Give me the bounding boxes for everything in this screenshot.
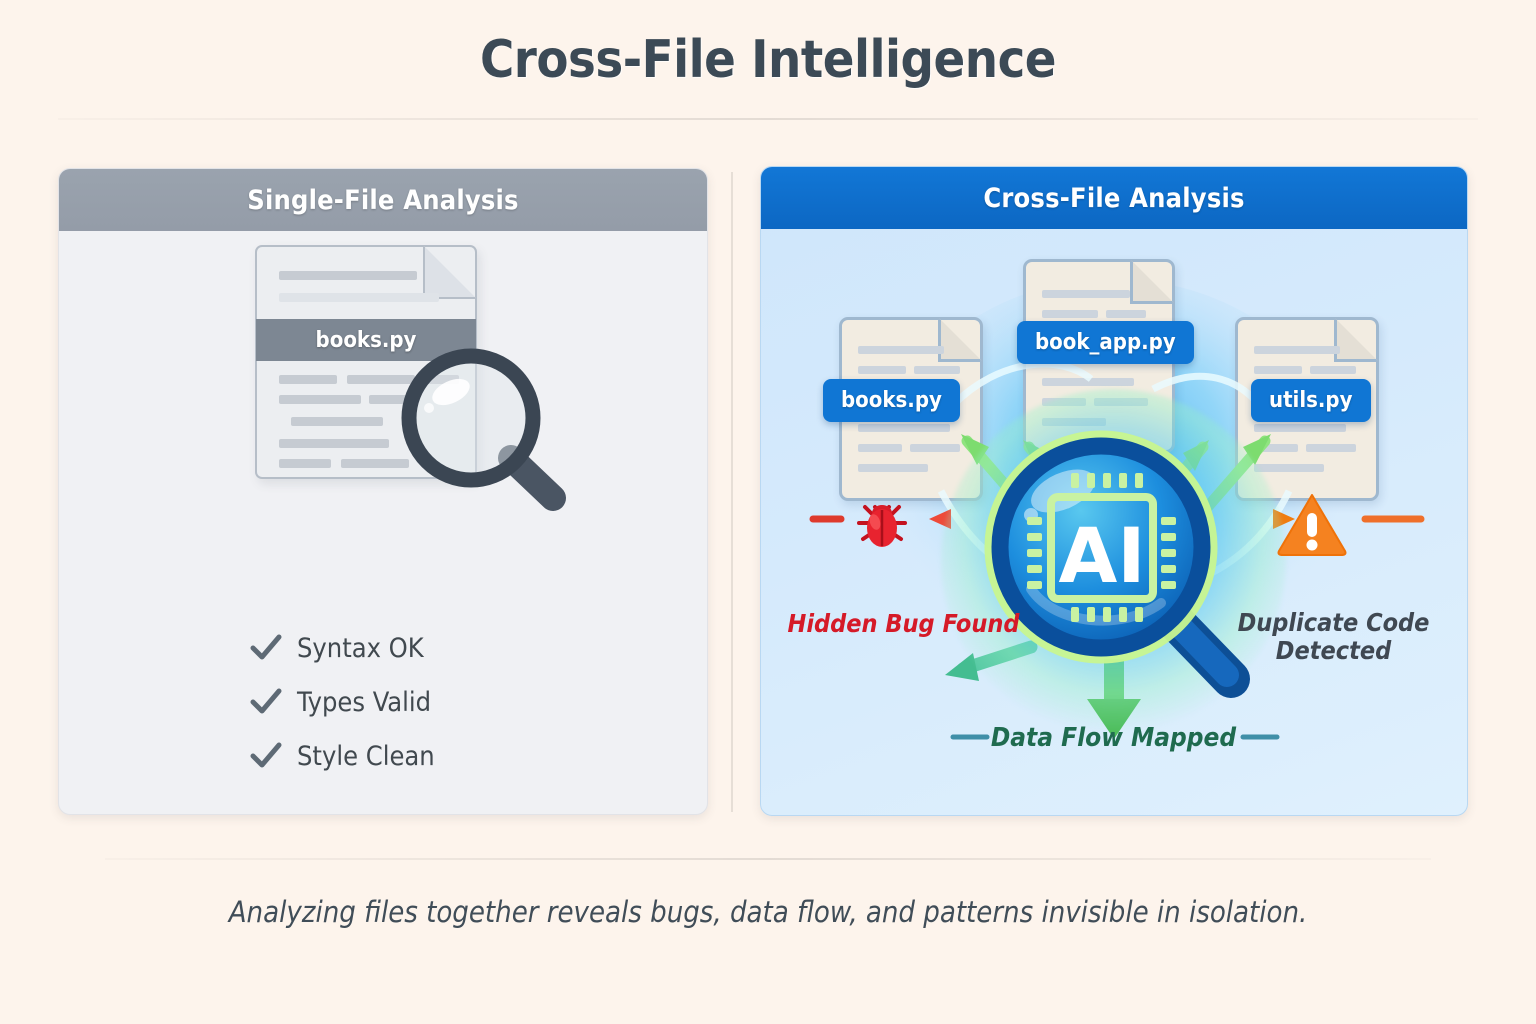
finding-label-data-flow: Data Flow Mapped (911, 723, 1316, 753)
doc-text-line (1042, 310, 1098, 318)
doc-text-line (1310, 366, 1356, 374)
single-file-analysis-panel: Single-File Analysis books.py (58, 168, 708, 815)
file-badge-book-app[interactable]: book_app.py (1017, 321, 1194, 364)
page-fold-corner (938, 317, 983, 362)
doc-text-line (914, 366, 960, 374)
file-badge-label: book_app.py (1035, 330, 1176, 355)
page-fold-corner (1334, 317, 1379, 362)
check-icon (249, 631, 283, 665)
finding-label-duplicate-code: Duplicate Code Detected (1201, 609, 1466, 664)
cross-file-panel-header: Cross-File Analysis (761, 167, 1467, 229)
doc-text-line (1254, 366, 1302, 374)
doc-text-line (1306, 444, 1356, 452)
doc-text-line (291, 417, 383, 426)
doc-text-line (279, 395, 361, 404)
analysis-checklist: Syntax OK Types Valid Style Clean (249, 631, 435, 793)
checklist-item: Types Valid (249, 685, 435, 719)
doc-text-line (1254, 424, 1346, 432)
single-file-panel-title: Single-File Analysis (247, 185, 518, 216)
page-fold-corner (1130, 259, 1175, 304)
doc-text-line (279, 459, 331, 468)
page-title: Cross-File Intelligence (0, 30, 1536, 90)
doc-text-line (279, 439, 389, 448)
single-file-panel-header: Single-File Analysis (59, 169, 707, 231)
doc-text-line (858, 366, 906, 374)
doc-text-line (858, 424, 950, 432)
page-fold-corner (423, 245, 477, 299)
doc-text-line (1042, 290, 1130, 298)
ai-core-label: AI (1058, 511, 1145, 600)
top-divider (58, 118, 1478, 120)
finding-label-line1: Duplicate Code (1201, 609, 1466, 637)
file-badge-books[interactable]: books.py (823, 379, 960, 422)
doc-text-line (279, 293, 439, 302)
checklist-item-label: Style Clean (297, 741, 435, 772)
doc-text-line (1042, 378, 1134, 386)
doc-text-line (858, 444, 902, 452)
file-badge-label: utils.py (1269, 388, 1353, 413)
bug-icon (851, 491, 913, 553)
checklist-item-label: Syntax OK (297, 633, 424, 664)
bottom-divider (105, 858, 1431, 860)
magnifier-icon (399, 346, 579, 526)
checklist-item-label: Types Valid (297, 687, 431, 718)
checklist-item: Style Clean (249, 739, 435, 773)
doc-text-line (910, 444, 960, 452)
warning-icon (1277, 491, 1347, 557)
doc-text-line (1254, 346, 1340, 354)
panel-divider (731, 172, 733, 812)
doc-text-line (1106, 310, 1146, 318)
doc-text-line (858, 346, 944, 354)
checklist-item: Syntax OK (249, 631, 435, 665)
doc-text-line (1254, 444, 1298, 452)
check-icon (249, 739, 283, 773)
cross-file-panel-title: Cross-File Analysis (983, 183, 1244, 214)
single-file-panel-body: books.py (59, 231, 707, 814)
footer-caption: Analyzing files together reveals bugs, d… (0, 895, 1536, 929)
doc-text-line (279, 271, 417, 280)
cross-file-panel-body: AI books.py book_app.py utils.py (761, 229, 1467, 815)
finding-label-line2: Detected (1201, 637, 1466, 665)
file-badge-utils[interactable]: utils.py (1251, 379, 1371, 422)
doc-text-line (1254, 464, 1324, 472)
cross-file-analysis-panel: Cross-File Analysis (760, 166, 1468, 816)
finding-label-hidden-bug: Hidden Bug Found (771, 609, 1036, 638)
infographic-page: Cross-File Intelligence Single-File Anal… (0, 0, 1536, 1024)
doc-text-line (858, 464, 928, 472)
check-icon (249, 685, 283, 719)
doc-text-line (279, 375, 337, 384)
file-badge-label: books.py (841, 388, 942, 413)
